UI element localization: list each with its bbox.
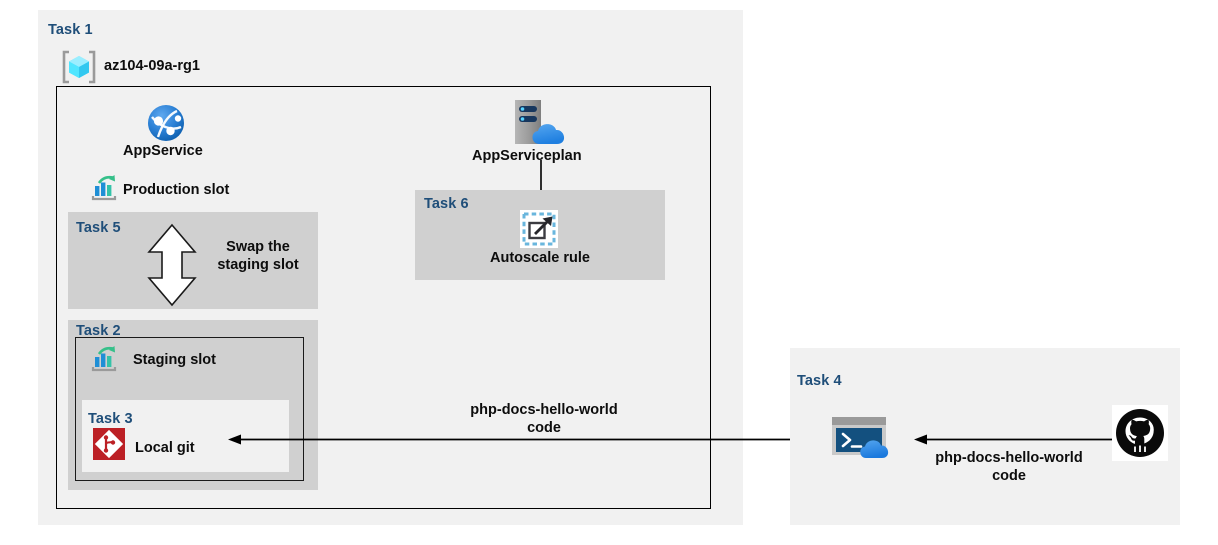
center-arrow-label-line1: php-docs-hello-world <box>470 402 617 418</box>
appservice-globe-icon <box>146 103 186 143</box>
git-icon <box>93 428 125 460</box>
deployment-slot-icon <box>90 174 118 202</box>
task5-text-line1: Swap the <box>226 239 290 255</box>
task4-arrow-label: php-docs-hello-world code <box>909 449 1109 485</box>
task6-label: Task 6 <box>424 196 469 212</box>
center-arrow-label-line2: code <box>527 420 561 436</box>
task5-text: Swap the staging slot <box>203 238 313 274</box>
production-slot-label: Production slot <box>123 181 229 199</box>
local-git-label: Local git <box>135 439 195 457</box>
task2-label: Task 2 <box>76 323 121 339</box>
resource-group-name: az104-09a-rg1 <box>104 57 200 75</box>
diagram-canvas: Task 1 az104-09a-rg1 <box>0 0 1218 545</box>
task1-label: Task 1 <box>48 22 93 38</box>
github-octocat-icon <box>1112 405 1168 461</box>
appserviceplan-server-cloud-icon <box>511 98 573 152</box>
cloud-shell-icon <box>832 415 898 463</box>
autoscale-rule-icon <box>520 210 558 248</box>
resource-group-cube-icon <box>60 50 98 84</box>
autoscale-rule-label: Autoscale rule <box>490 249 590 267</box>
task5-label: Task 5 <box>76 220 121 236</box>
task3-label: Task 3 <box>88 411 133 427</box>
task5-text-line2: staging slot <box>217 257 298 273</box>
appservice-label: AppService <box>123 142 203 160</box>
task4-arrow-label-line1: php-docs-hello-world <box>935 450 1082 466</box>
deployment-slot-icon <box>90 345 118 373</box>
task4-label: Task 4 <box>797 373 842 389</box>
github-to-cloudshell-arrow <box>914 430 1114 450</box>
center-arrow-label: php-docs-hello-world code <box>444 401 644 437</box>
swap-double-arrow-icon <box>146 223 198 307</box>
task4-arrow-label-line2: code <box>992 468 1026 484</box>
staging-slot-label: Staging slot <box>133 351 216 369</box>
appserviceplan-label: AppServiceplan <box>472 147 582 165</box>
